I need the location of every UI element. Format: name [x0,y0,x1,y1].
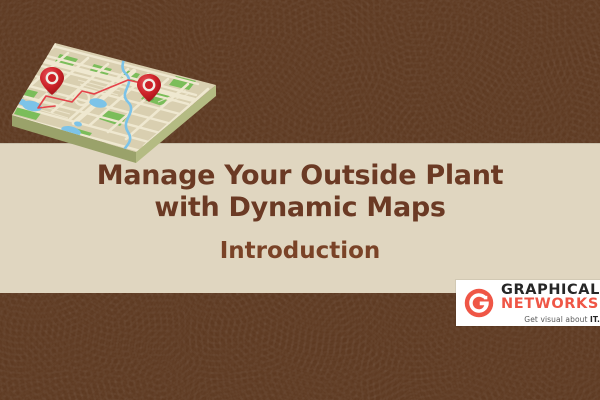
map-svg [8,40,228,170]
slide-canvas: Manage Your Outside Plant with Dynamic M… [0,0,600,400]
logo-wordmark: GRAPHICAL NETWORKS Get visual about IT. [501,283,600,324]
map-illustration [8,40,228,170]
logo-tagline-prefix: Get visual about [524,315,590,324]
graphical-networks-logo[interactable]: GRAPHICAL NETWORKS Get visual about IT. [456,280,600,326]
logo-word-networks: NETWORKS [501,297,600,312]
title-block: Manage Your Outside Plant with Dynamic M… [0,160,600,265]
logo-tagline-emphasis: IT. [590,315,600,324]
logo-word-graphical: GRAPHICAL [501,283,600,297]
logo-g-mark-icon [464,288,494,318]
slide-subtitle: Introduction [0,238,600,265]
logo-tagline: Get visual about IT. [501,315,600,324]
title-line-1: Manage Your Outside Plant [0,160,600,192]
title-line-2: with Dynamic Maps [0,192,600,224]
